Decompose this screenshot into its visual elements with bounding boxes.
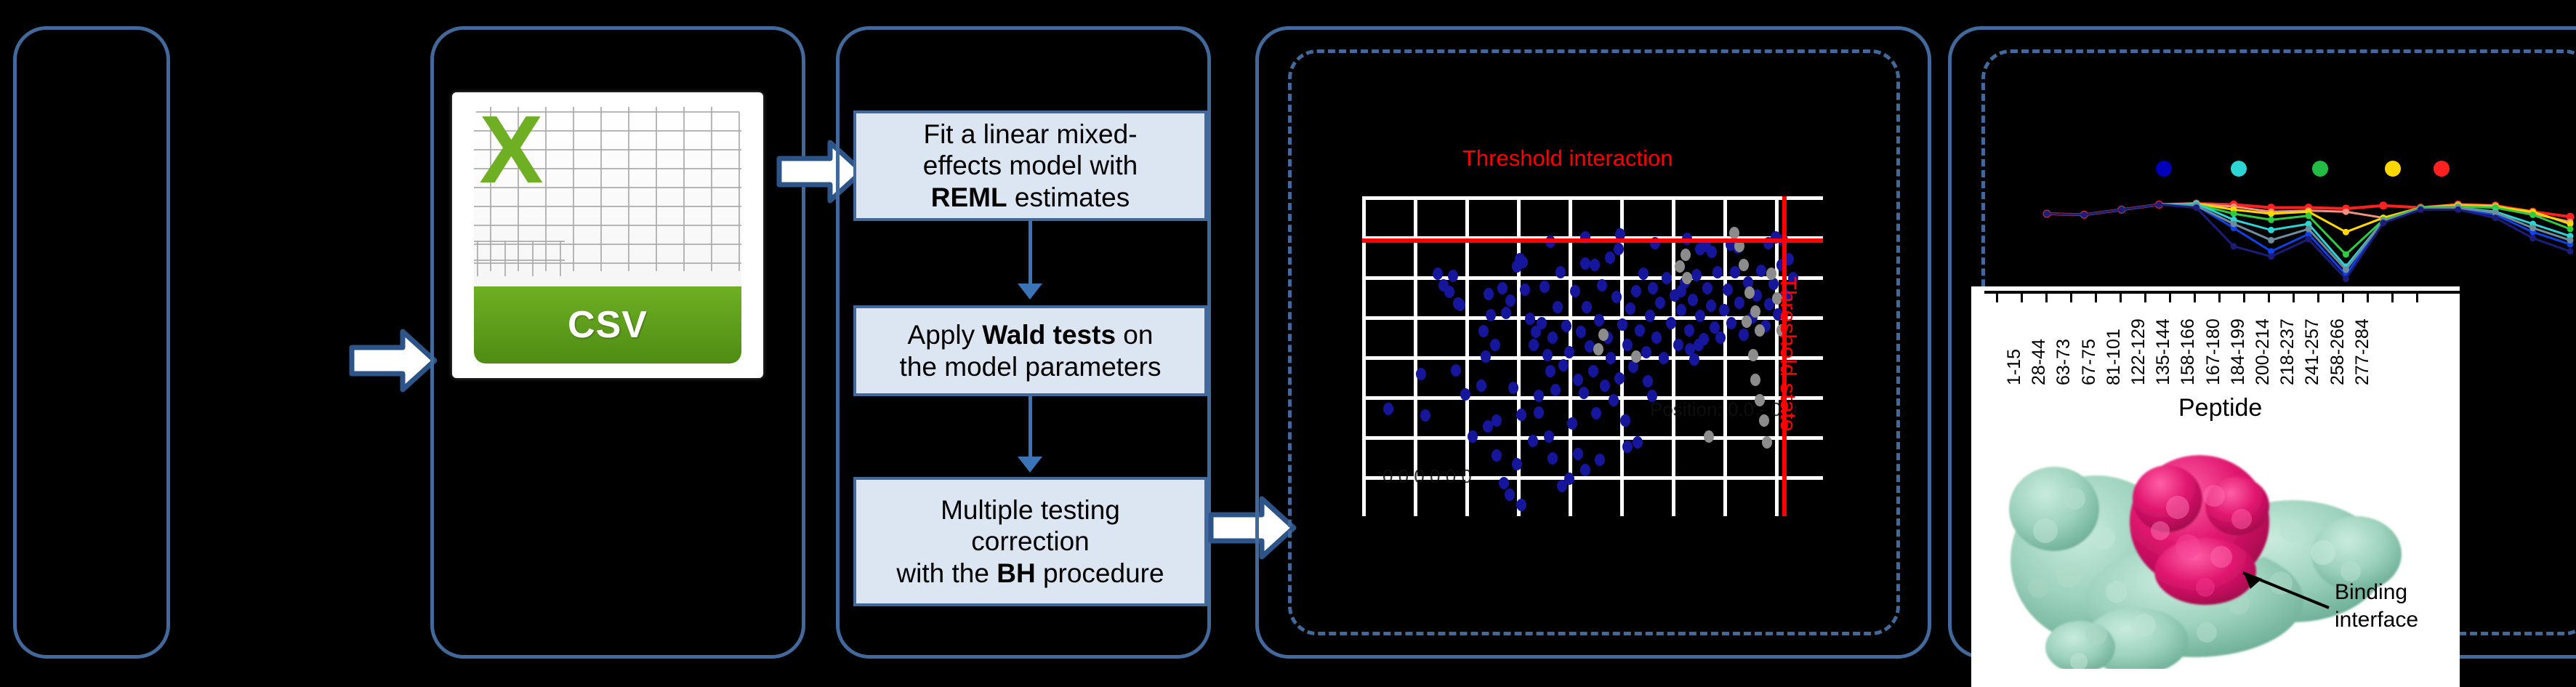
line-point: [2231, 211, 2237, 217]
fit-model-box[interactable]: Fit a linear mixed-effects model withREM…: [853, 111, 1207, 221]
line-point: [2268, 237, 2274, 244]
csv-file-icon: X CSV: [452, 92, 763, 378]
stage-input-data: [13, 26, 170, 659]
peptide-tick-label: 122-129: [2128, 318, 2149, 385]
peptide-tick-label: 63-73: [2053, 339, 2074, 385]
peptide-tick-label: 135-144: [2153, 318, 2174, 385]
connector-1-arrowhead: [1018, 284, 1042, 300]
line-point: [2529, 235, 2536, 241]
line-point: [2343, 252, 2349, 258]
peptide-line-chart-svg: [2000, 138, 2576, 291]
line-point: [2567, 248, 2574, 254]
line-point: [2529, 212, 2536, 218]
peptide-tick-label: 241-257: [2302, 318, 2323, 385]
peptide-tick-label: 200-214: [2253, 318, 2274, 385]
line-point: [2231, 221, 2237, 228]
peptide-tick-label: 81-101: [2104, 329, 2125, 385]
csv-grid-lower: [474, 241, 565, 277]
threshold-interaction-line: [1362, 238, 1823, 243]
peptide-axis-line: [1984, 291, 2460, 294]
line-point: [2343, 276, 2349, 282]
figure-canvas: X CSV Fit a linear mixed-effects model w…: [0, 0, 2576, 687]
binding-line-1: Binding: [2335, 580, 2407, 604]
peptide-tick-label: 67-75: [2079, 339, 2100, 385]
line-point: [2081, 212, 2088, 218]
bh-correction-text: Multiple testingcorrectionwith the BH pr…: [856, 494, 1204, 590]
threshold-scatter-plot: Position: 0.0 - 0.0 0.0 0.0 0.0: [1362, 196, 1823, 516]
line-point: [2343, 209, 2349, 215]
line-point: [2193, 204, 2199, 211]
line-point: [2380, 220, 2386, 226]
wald-tests-box[interactable]: Apply Wald tests onthe model parameters: [853, 305, 1207, 396]
threshold-interaction-label: Threshold interaction: [1462, 145, 1673, 172]
line-point: [2231, 243, 2237, 249]
line-point: [2343, 267, 2349, 273]
connector-2-arrowhead: [1018, 457, 1042, 473]
peptide-line-chart: [2000, 138, 2576, 291]
binding-line-2: interface: [2335, 608, 2418, 632]
line-point: [2156, 201, 2162, 208]
line-point: [2567, 237, 2574, 244]
peptide-axis-label: Peptide: [2178, 394, 2262, 422]
line-point: [2567, 226, 2574, 233]
line-point: [2492, 214, 2499, 221]
csv-format-band: CSV: [474, 286, 741, 363]
connector-1: [1029, 221, 1032, 288]
line-point: [2418, 206, 2424, 213]
line-point: [2379, 201, 2387, 209]
threshold-state-label: Threshold state: [1775, 276, 1801, 432]
peptide-tick-label: 1-15: [2004, 349, 2025, 385]
line-point: [2268, 227, 2274, 233]
peptide-tick-label: 167-180: [2203, 318, 2224, 385]
csv-format-label: CSV: [568, 303, 648, 347]
fit-model-text: Fit a linear mixed-effects model withREM…: [856, 118, 1204, 214]
wald-tests-text: Apply Wald tests onthe model parameters: [856, 319, 1204, 382]
peptide-tick-label: 277-284: [2352, 318, 2373, 385]
line-point: [2306, 212, 2312, 219]
line-point: [2044, 211, 2050, 217]
line-point: [2529, 225, 2536, 231]
bh-correction-box[interactable]: Multiple testingcorrectionwith the BH pr…: [853, 477, 1207, 606]
excel-x-icon: X: [479, 107, 543, 198]
line-point: [2306, 226, 2312, 233]
arrow-input-to-csv: [349, 327, 438, 394]
line-point: [2455, 206, 2461, 213]
line-point: [2306, 236, 2312, 243]
peptide-tick-label: 158-166: [2178, 318, 2199, 385]
binding-interface-annotation: Binding interface: [2335, 579, 2418, 633]
peptide-tick-label: 258-266: [2327, 318, 2348, 385]
peptide-tick-label: 28-44: [2029, 339, 2050, 385]
line-point: [2268, 253, 2274, 260]
line-point: [2268, 217, 2274, 223]
peptide-structure-panel: 1-1528-4463-7367-7581-101122-129135-1441…: [1971, 286, 2460, 687]
line-point: [2343, 229, 2349, 236]
scatter-ghost-text-2: 0.0 0.0 0.0: [1382, 465, 1472, 488]
peptide-tick-label: 184-199: [2228, 318, 2249, 385]
line-point: [2268, 211, 2274, 217]
line-point: [2118, 206, 2125, 213]
connector-2: [1029, 396, 1032, 462]
peptide-tick-label: 218-237: [2277, 318, 2298, 385]
